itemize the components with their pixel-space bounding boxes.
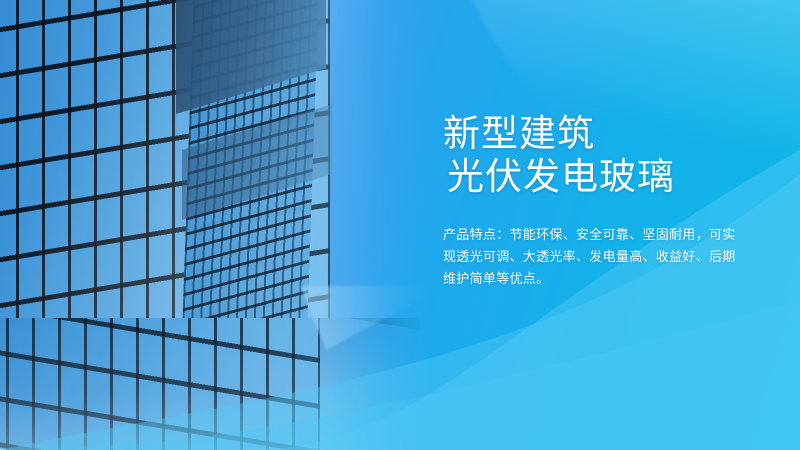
promo-banner: 新型建筑 光伏发电玻璃 产品特点：节能环保、安全可靠、坚固耐用，可实现透光可调、…: [0, 0, 800, 450]
page-title: 新型建筑 光伏发电玻璃: [443, 112, 773, 198]
copy-block: 新型建筑 光伏发电玻璃 产品特点：节能环保、安全可靠、坚固耐用，可实现透光可调、…: [443, 112, 773, 290]
product-description: 产品特点：节能环保、安全可靠、坚固耐用，可实现透光可调、大透光率、发电量高、收益…: [443, 224, 743, 290]
headline-line-2: 光伏发电玻璃: [443, 155, 773, 198]
headline-line-1: 新型建筑: [443, 113, 595, 154]
